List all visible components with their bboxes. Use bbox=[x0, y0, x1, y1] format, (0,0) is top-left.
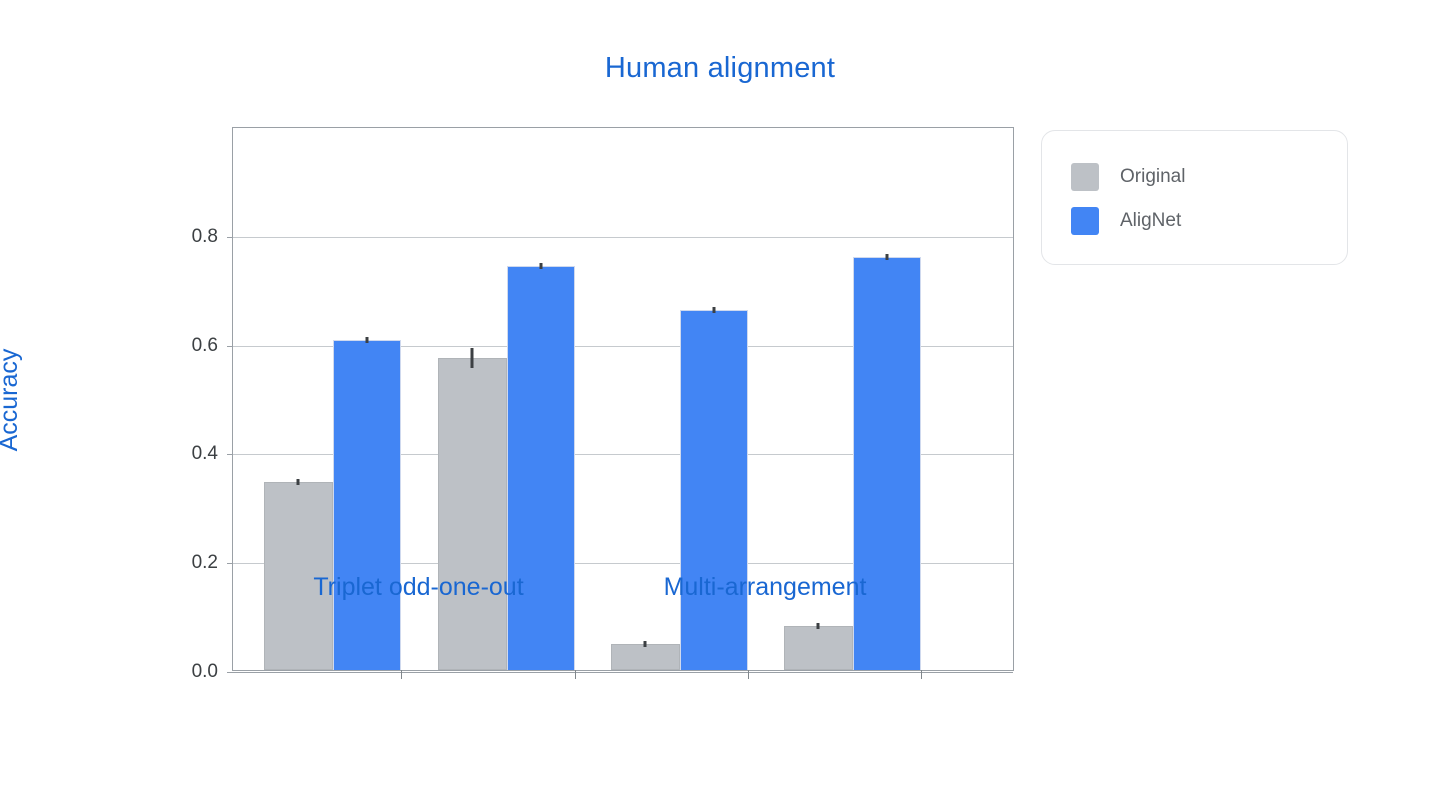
y-tick-label: 0.0 bbox=[192, 661, 218, 683]
gridline bbox=[233, 237, 1013, 238]
bar-alignet-3 bbox=[853, 257, 922, 670]
legend-swatch-alignet bbox=[1071, 207, 1099, 235]
error-bar bbox=[471, 348, 474, 368]
error-bar bbox=[365, 337, 368, 343]
y-axis-label: Accuracy bbox=[0, 290, 24, 510]
chart-figure: Human alignment Accuracy 0.00.20.40.60.8… bbox=[0, 0, 1440, 810]
bar-alignet-0 bbox=[333, 340, 402, 670]
bar-alignet-2 bbox=[680, 310, 749, 670]
error-bar bbox=[885, 254, 888, 260]
y-tick-label: 0.6 bbox=[192, 335, 218, 357]
bar-original-1 bbox=[438, 358, 507, 670]
x-tick-mark bbox=[575, 670, 576, 679]
error-bar bbox=[539, 263, 542, 270]
error-bar bbox=[817, 623, 820, 629]
chart-title: Human alignment bbox=[0, 52, 1440, 85]
legend-label: AligNet bbox=[1120, 210, 1181, 232]
y-tick-label: 0.4 bbox=[192, 443, 218, 465]
x-tick-mark bbox=[401, 670, 402, 679]
y-tick-mark bbox=[227, 346, 233, 347]
y-tick-mark bbox=[227, 237, 233, 238]
bar-alignet-1 bbox=[507, 266, 576, 670]
y-tick-mark bbox=[227, 454, 233, 455]
error-bar bbox=[644, 641, 647, 647]
legend-item-original[interactable]: Original bbox=[1071, 163, 1185, 191]
y-tick-mark bbox=[227, 563, 233, 564]
x-category-label: Triplet odd-one-out bbox=[313, 573, 523, 602]
chart-legend: OriginalAligNet bbox=[1041, 130, 1348, 265]
x-tick-mark bbox=[748, 670, 749, 679]
y-tick-mark bbox=[227, 672, 233, 673]
gridline bbox=[233, 672, 1013, 673]
error-bar bbox=[712, 307, 715, 313]
y-tick-label: 0.8 bbox=[192, 226, 218, 248]
legend-label: Original bbox=[1120, 166, 1185, 188]
x-category-label: Multi-arrangement bbox=[664, 573, 867, 602]
error-bar bbox=[297, 479, 300, 485]
bar-original-2 bbox=[611, 644, 680, 670]
y-tick-label: 0.2 bbox=[192, 552, 218, 574]
x-tick-mark bbox=[921, 670, 922, 679]
bar-original-3 bbox=[784, 626, 853, 670]
legend-swatch-original bbox=[1071, 163, 1099, 191]
legend-item-alignet[interactable]: AligNet bbox=[1071, 207, 1181, 235]
